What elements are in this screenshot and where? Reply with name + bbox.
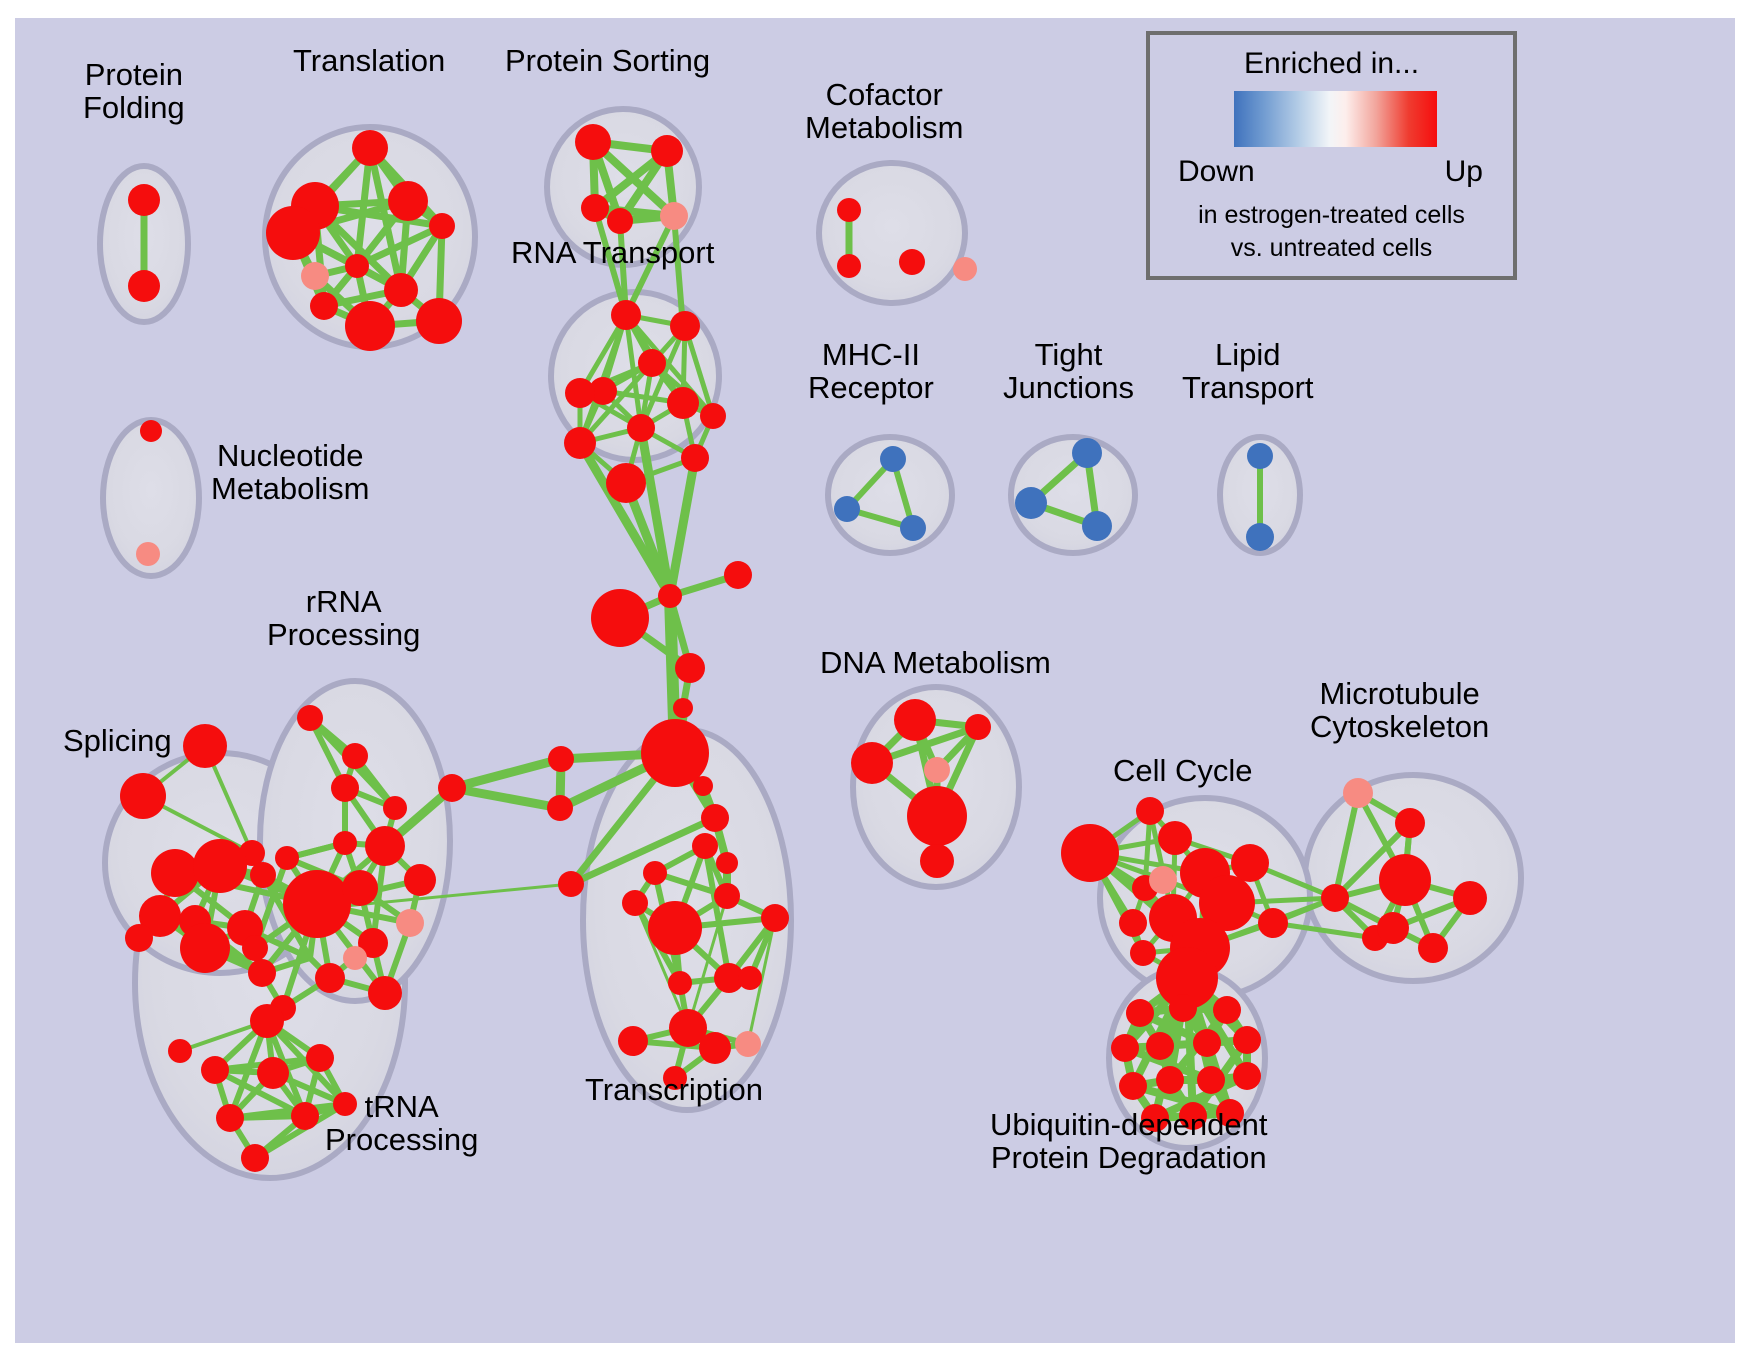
node [283, 870, 351, 938]
cluster-label-splicing: Splicing [63, 724, 172, 757]
node [128, 184, 160, 216]
cluster-label-cell-cycle: Cell Cycle [1113, 754, 1253, 787]
cluster-label-trna-processing: tRNA Processing [325, 1090, 478, 1157]
cluster-label-protein-folding: Protein Folding [83, 58, 185, 125]
node [565, 378, 595, 408]
node [607, 208, 633, 234]
node [384, 273, 418, 307]
node [834, 496, 860, 522]
node [920, 844, 954, 878]
node [581, 194, 609, 222]
cluster-label-tight-junctions: Tight Junctions [1003, 338, 1134, 405]
node [1156, 1066, 1184, 1094]
node [547, 795, 573, 821]
node [342, 870, 378, 906]
node [716, 852, 738, 874]
node [564, 427, 596, 459]
node [558, 871, 584, 897]
cluster-label-rrna-processing: rRNA Processing [267, 585, 420, 652]
node [193, 839, 247, 893]
node [1169, 994, 1197, 1022]
node [438, 774, 466, 802]
node [333, 831, 357, 855]
node [651, 135, 683, 167]
cluster-label-lipid-transport: Lipid Transport [1182, 338, 1314, 405]
node [1072, 438, 1102, 468]
node [1418, 933, 1448, 963]
node [136, 542, 160, 566]
node [310, 292, 338, 320]
node [396, 909, 424, 937]
node [1130, 940, 1156, 966]
node [1061, 824, 1119, 882]
node [1395, 808, 1425, 838]
node [1231, 844, 1269, 882]
node [692, 833, 718, 859]
legend-caption-line2: vs. untreated cells [1150, 234, 1513, 263]
node [250, 862, 276, 888]
node [699, 1032, 731, 1064]
node [241, 1144, 269, 1172]
node [606, 463, 646, 503]
node [1377, 912, 1409, 944]
node [693, 776, 713, 796]
node [345, 254, 369, 278]
node [575, 124, 611, 160]
node [343, 946, 367, 970]
node [670, 311, 700, 341]
node [900, 515, 926, 541]
node [1158, 821, 1192, 855]
node [837, 254, 861, 278]
cluster-label-mhc-ii-receptor: MHC-II Receptor [808, 338, 934, 405]
figure-root: Protein Folding Translation Protein Sort… [0, 0, 1750, 1360]
node [591, 589, 649, 647]
cluster-label-protein-sorting: Protein Sorting [505, 44, 710, 77]
node [180, 923, 230, 973]
legend-title: Enriched in... [1150, 47, 1513, 81]
node [352, 130, 388, 166]
node [242, 935, 268, 961]
cluster-label-cofactor-metabolism: Cofactor Metabolism [805, 78, 964, 145]
node [660, 202, 688, 230]
node [128, 270, 160, 302]
legend-down-label: Down [1178, 155, 1255, 189]
node [1149, 866, 1177, 894]
node [257, 1057, 289, 1089]
node [404, 864, 436, 896]
node [622, 890, 648, 916]
node [1321, 884, 1349, 912]
node [668, 971, 692, 995]
node [1246, 523, 1274, 551]
node [342, 743, 368, 769]
node [1343, 778, 1373, 808]
node [1126, 999, 1154, 1027]
node [837, 198, 861, 222]
cluster-label-microtubule-cytoskeleton: Microtubule Cytoskeleton [1310, 677, 1489, 744]
node [1193, 1029, 1221, 1057]
node [953, 257, 977, 281]
cluster-label-dna-metabolism: DNA Metabolism [820, 646, 1051, 679]
node [368, 976, 402, 1010]
node [701, 804, 729, 832]
hull-cofactor-metabolism [819, 163, 965, 303]
node [250, 1004, 284, 1038]
node [416, 298, 462, 344]
node [714, 883, 740, 909]
node [125, 924, 153, 952]
node [1247, 443, 1273, 469]
node [618, 1026, 648, 1056]
cluster-label-rna-transport: RNA Transport [511, 236, 714, 269]
node [907, 786, 967, 846]
node [627, 414, 655, 442]
node [643, 861, 667, 885]
cluster-label-ubiquitin-protein-degradation: Ubiquitin-dependent Protein Degradation [990, 1108, 1268, 1175]
node [1379, 854, 1431, 906]
node [851, 742, 893, 784]
node [315, 963, 345, 993]
node [880, 446, 906, 472]
node [429, 213, 455, 239]
node [965, 714, 991, 740]
node [924, 757, 950, 783]
node [681, 444, 709, 472]
cluster-label-nucleotide-metabolism: Nucleotide Metabolism [211, 439, 370, 506]
node [1233, 1062, 1261, 1090]
node [291, 1102, 319, 1130]
node [1146, 1032, 1174, 1060]
node [1197, 1066, 1225, 1094]
node [738, 966, 762, 990]
node [735, 1031, 761, 1057]
node [648, 901, 702, 955]
node [641, 719, 709, 787]
network-canvas: Protein Folding Translation Protein Sort… [15, 18, 1735, 1343]
node [216, 1104, 244, 1132]
node [1453, 881, 1487, 915]
node [345, 301, 395, 351]
node [658, 584, 682, 608]
node [1233, 1026, 1261, 1054]
node [675, 653, 705, 683]
node [306, 1044, 334, 1072]
node [899, 249, 925, 275]
node [1119, 909, 1147, 937]
node [1082, 511, 1112, 541]
node [140, 420, 162, 442]
node [1015, 487, 1047, 519]
node [365, 826, 405, 866]
node [275, 846, 299, 870]
legend-color-gradient [1234, 91, 1437, 147]
node [761, 904, 789, 932]
node [1213, 996, 1241, 1024]
node [611, 300, 641, 330]
node [894, 699, 936, 741]
node [297, 705, 323, 731]
node [301, 262, 329, 290]
legend-up-label: Up [1445, 155, 1483, 189]
node [1111, 1034, 1139, 1062]
cluster-label-translation: Translation [293, 44, 445, 77]
node [151, 849, 199, 897]
node [548, 746, 574, 772]
node [201, 1056, 229, 1084]
node [1136, 797, 1164, 825]
node [724, 561, 752, 589]
node [120, 773, 166, 819]
node [667, 387, 699, 419]
cluster-label-transcription: Transcription [585, 1073, 763, 1106]
node [673, 698, 693, 718]
node [638, 349, 666, 377]
node [183, 724, 227, 768]
node [388, 181, 428, 221]
node [700, 403, 726, 429]
node [331, 774, 359, 802]
node [266, 206, 320, 260]
node [1119, 1072, 1147, 1100]
legend-caption-line1: in estrogen-treated cells [1150, 201, 1513, 230]
node [168, 1039, 192, 1063]
node [1258, 908, 1288, 938]
node [248, 959, 276, 987]
node [383, 796, 407, 820]
legend-box: Enriched in... Down Up in estrogen-treat… [1146, 31, 1517, 280]
